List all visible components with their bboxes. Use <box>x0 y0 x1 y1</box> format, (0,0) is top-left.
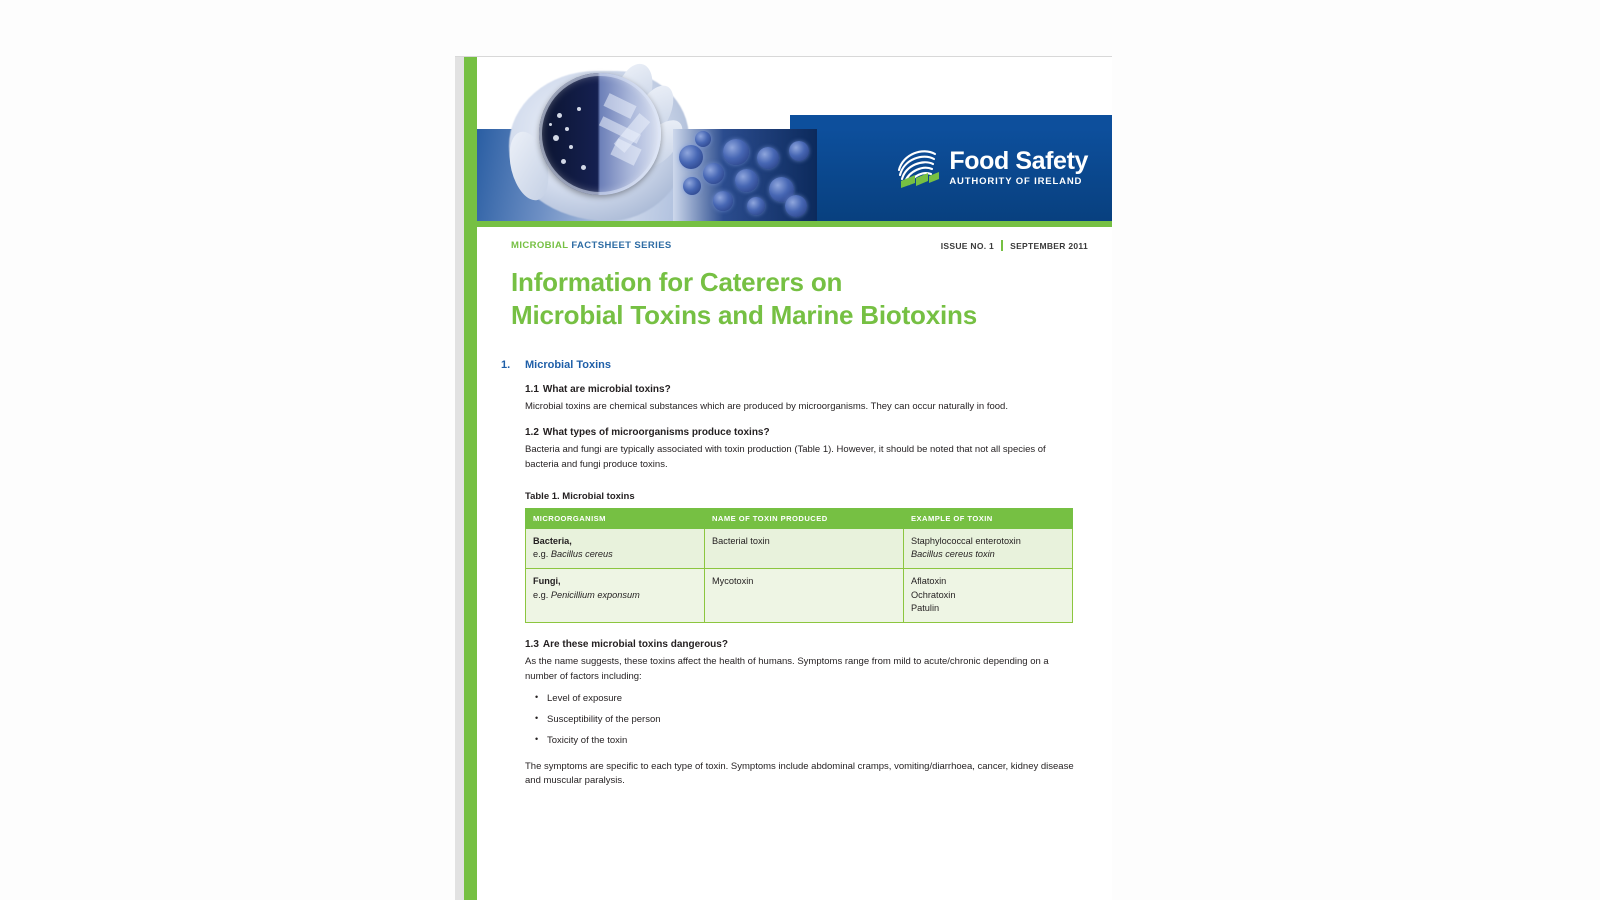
toxin-example: Bacillus cereus toxin <box>911 549 995 559</box>
toxin-example: Staphylococcal enterotoxin <box>911 536 1021 546</box>
banner-green-rule <box>477 221 1112 227</box>
fsai-logo-subtitle: AUTHORITY OF IRELAND <box>949 177 1088 187</box>
subsection-1-1-number: 1.1 <box>525 384 539 395</box>
subsection-1-1-heading: 1.1What are microbial toxins? <box>525 384 1088 395</box>
subsection-1-2-number: 1.2 <box>525 427 539 438</box>
list-item: Level of exposure <box>547 692 1088 706</box>
table-cell-toxin-name: Bacterial toxin <box>705 528 904 569</box>
section-1-heading: 1. Microbial Toxins <box>501 359 1088 371</box>
petri-dish <box>539 73 661 195</box>
toxin-example: Ochratoxin <box>911 590 955 600</box>
fsai-logo: Food Safety AUTHORITY OF IRELAND <box>895 145 1088 191</box>
table-cell-microorganism: Bacteria, e.g. Bacillus cereus <box>526 528 705 569</box>
page-title: Information for Caterers on Microbial To… <box>511 266 1088 333</box>
series-label: MICROBIAL FACTSHEET SERIES <box>511 240 672 251</box>
factors-bullet-list: Level of exposure Susceptibility of the … <box>525 692 1088 749</box>
toxin-example: Patulin <box>911 603 939 613</box>
document-body: 1. Microbial Toxins 1.1What are microbia… <box>501 359 1088 790</box>
section-1-content: 1.1What are microbial toxins? Microbial … <box>525 384 1088 790</box>
subsection-1-1-paragraph: Microbial toxins are chemical substances… <box>525 400 1077 415</box>
list-item: Susceptibility of the person <box>547 713 1088 727</box>
organism-name: Fungi, <box>533 576 561 586</box>
subsection-1-2-heading: 1.2What types of microorganisms produce … <box>525 427 1088 438</box>
issue-number: ISSUE NO. 1 <box>941 241 994 251</box>
table-cell-toxin-name: Mycotoxin <box>705 569 904 623</box>
subsection-1-2-title: What types of microorganisms produce tox… <box>543 427 770 438</box>
organism-eg-species: Penicillium exponsum <box>551 590 640 600</box>
table-row: Fungi, e.g. Penicillium exponsum Mycotox… <box>526 569 1073 623</box>
page-title-line-1: Information for Caterers on <box>511 266 1088 299</box>
table-header-row: MICROORGANISM NAME OF TOXIN PRODUCED EXA… <box>526 508 1073 528</box>
document-viewport: Food Safety AUTHORITY OF IRELAND MICROBI… <box>0 0 1600 900</box>
toxin-example: Aflatoxin <box>911 576 946 586</box>
series-word-primary: MICROBIAL <box>511 240 568 251</box>
subsection-1-3-title: Are these microbial toxins dangerous? <box>543 639 728 650</box>
section-1-number: 1. <box>501 359 517 371</box>
fsai-logo-wordmark: Food Safety AUTHORITY OF IRELAND <box>949 149 1088 187</box>
organism-eg-prefix: e.g. <box>533 590 551 600</box>
petri-dish-rim <box>539 73 661 195</box>
fsai-logo-title: Food Safety <box>949 149 1088 174</box>
subsection-1-3-paragraph: As the name suggests, these toxins affec… <box>525 655 1077 684</box>
series-word-secondary: FACTSHEET SERIES <box>571 240 671 251</box>
bacteria-cells-photo <box>673 129 817 221</box>
table-cell-microorganism: Fungi, e.g. Penicillium exponsum <box>526 569 705 623</box>
page-title-line-2: Microbial Toxins and Marine Biotoxins <box>511 299 1088 332</box>
table-header-toxin-name: NAME OF TOXIN PRODUCED <box>705 508 904 528</box>
organism-eg-prefix: e.g. <box>533 549 551 559</box>
table-header-toxin-example: EXAMPLE OF TOXIN <box>904 508 1073 528</box>
subsection-1-3-heading: 1.3Are these microbial toxins dangerous? <box>525 639 1088 650</box>
table-cell-toxin-example: Staphylococcal enterotoxin Bacillus cere… <box>904 528 1073 569</box>
table-1-microbial-toxins: MICROORGANISM NAME OF TOXIN PRODUCED EXA… <box>525 508 1073 624</box>
page-left-margin-strip <box>455 57 464 900</box>
issue-separator <box>1001 240 1003 251</box>
subsection-1-2-paragraph: Bacteria and fungi are typically associa… <box>525 443 1077 472</box>
section-1-title: Microbial Toxins <box>525 359 611 371</box>
issue-strip: MICROBIAL FACTSHEET SERIES ISSUE NO. 1 S… <box>511 240 1088 254</box>
masthead-photo <box>477 57 817 221</box>
table-header-microorganism: MICROORGANISM <box>526 508 705 528</box>
table-row: Bacteria, e.g. Bacillus cereus Bacterial… <box>526 528 1073 569</box>
organism-name: Bacteria, <box>533 536 572 546</box>
subsection-1-1-title: What are microbial toxins? <box>543 384 671 395</box>
table-1-caption: Table 1. Microbial toxins <box>525 491 1088 502</box>
document-page: Food Safety AUTHORITY OF IRELAND MICROBI… <box>455 56 1112 900</box>
page-left-green-bar <box>464 57 477 900</box>
banner-blue-step <box>790 115 1112 129</box>
issue-date-label: ISSUE NO. 1 SEPTEMBER 2011 <box>941 240 1088 251</box>
masthead-banner: Food Safety AUTHORITY OF IRELAND <box>477 57 1112 227</box>
page-content-column: Food Safety AUTHORITY OF IRELAND MICROBI… <box>477 57 1112 900</box>
organism-eg-species: Bacillus cereus <box>551 549 613 559</box>
fsai-fingerprint-leaf-logo-icon <box>895 145 941 191</box>
subsection-1-3-number: 1.3 <box>525 639 539 650</box>
issue-date: SEPTEMBER 2011 <box>1010 241 1088 251</box>
subsection-1-3-closing-paragraph: The symptoms are specific to each type o… <box>525 760 1077 789</box>
list-item: Toxicity of the toxin <box>547 734 1088 748</box>
table-cell-toxin-example: Aflatoxin Ochratoxin Patulin <box>904 569 1073 623</box>
